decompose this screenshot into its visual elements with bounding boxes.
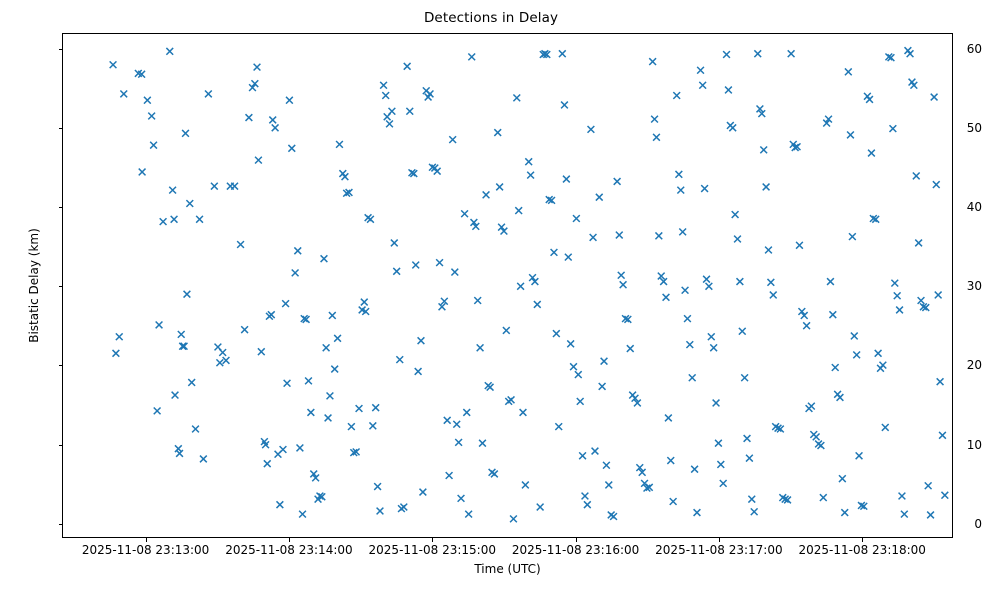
x-tick-label: 2025-11-08 23:17:00 bbox=[655, 543, 782, 557]
x-tick-label: 2025-11-08 23:15:00 bbox=[369, 543, 496, 557]
plot-area[interactable] bbox=[62, 33, 953, 538]
x-tick-label: 2025-11-08 23:16:00 bbox=[512, 543, 639, 557]
x-tick-label: 2025-11-08 23:18:00 bbox=[798, 543, 925, 557]
x-tick-mark bbox=[432, 538, 433, 542]
x-tick-label: 2025-11-08 23:14:00 bbox=[225, 543, 352, 557]
x-axis-label: Time (UTC) bbox=[62, 562, 953, 576]
scatter-series bbox=[63, 34, 952, 537]
x-tick-mark bbox=[862, 538, 863, 542]
x-tick-mark bbox=[576, 538, 577, 542]
y-axis-label: Bistatic Delay (km) bbox=[27, 33, 45, 538]
x-tick-mark bbox=[719, 538, 720, 542]
x-tick-mark bbox=[146, 538, 147, 542]
x-tick-label: 2025-11-08 23:13:00 bbox=[82, 543, 209, 557]
chart-figure: Detections in Delay 0102030405060 2025-1… bbox=[0, 0, 982, 590]
x-tick-mark bbox=[289, 538, 290, 542]
chart-title: Detections in Delay bbox=[0, 10, 982, 26]
